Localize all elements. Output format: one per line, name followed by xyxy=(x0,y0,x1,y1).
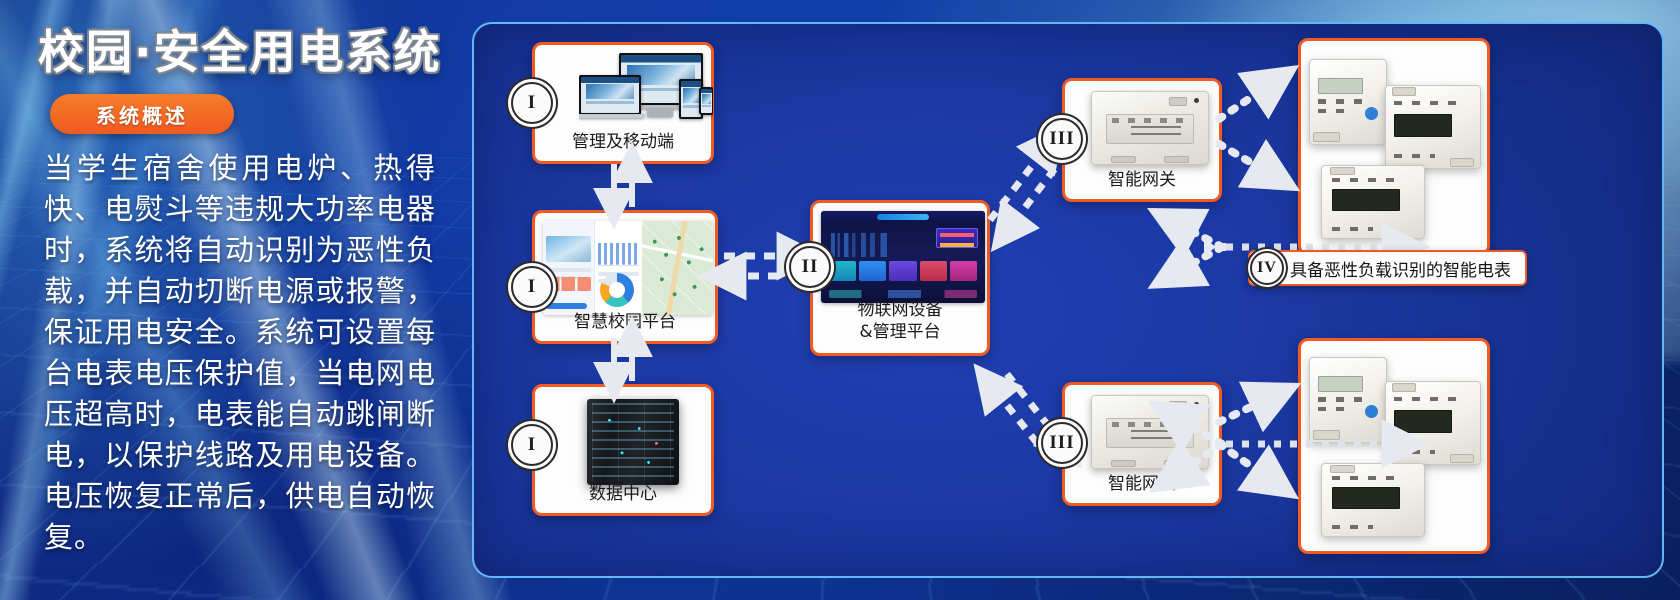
intro-column: 校园·安全用电系统 系统概述 当学生宿舍使用电炉、热得快、电熨斗等违规大功率电器… xyxy=(0,0,470,600)
connector-admin-to-campus xyxy=(614,164,632,207)
architecture-diagram-panel: 管理及移动端 I 智慧校园平台 I 数据中心 I xyxy=(472,22,1664,578)
section-badge-label: 系统概述 xyxy=(96,100,188,129)
badge-roman-i-datacenter: I xyxy=(511,424,553,466)
badge-roman-ii-iot: II xyxy=(789,246,831,288)
connector-meters-bottom-internal xyxy=(1174,416,1404,476)
connector-layer xyxy=(474,24,1664,578)
connector-campus-to-datacenter xyxy=(614,338,632,381)
connector-gateway-top-to-meters xyxy=(1219,82,1274,176)
badge-roman-i-admin: I xyxy=(511,82,553,124)
smart-meter-callout-label: 具备恶性负载识别的智能电表 xyxy=(1290,256,1511,281)
badge-roman-iii-gateway-bottom: III xyxy=(1041,422,1083,464)
smart-meter-callout-tag[interactable]: 具备恶性负载识别的智能电表 xyxy=(1248,250,1527,286)
connector-gateway-bottom-to-meters xyxy=(1219,396,1274,482)
connector-campus-to-iot xyxy=(724,256,799,276)
page-title: 校园·安全用电系统 xyxy=(38,16,441,82)
badge-roman-iv-meters: IV xyxy=(1250,251,1284,285)
system-overview-text: 当学生宿舍使用电炉、热得快、电熨斗等违规大功率电器时，系统将自动识别为恶性负载，… xyxy=(44,148,436,558)
badge-roman-iii-gateway-top: III xyxy=(1041,118,1083,160)
badge-roman-i-campus: I xyxy=(511,266,553,308)
section-badge: 系统概述 xyxy=(50,94,234,134)
